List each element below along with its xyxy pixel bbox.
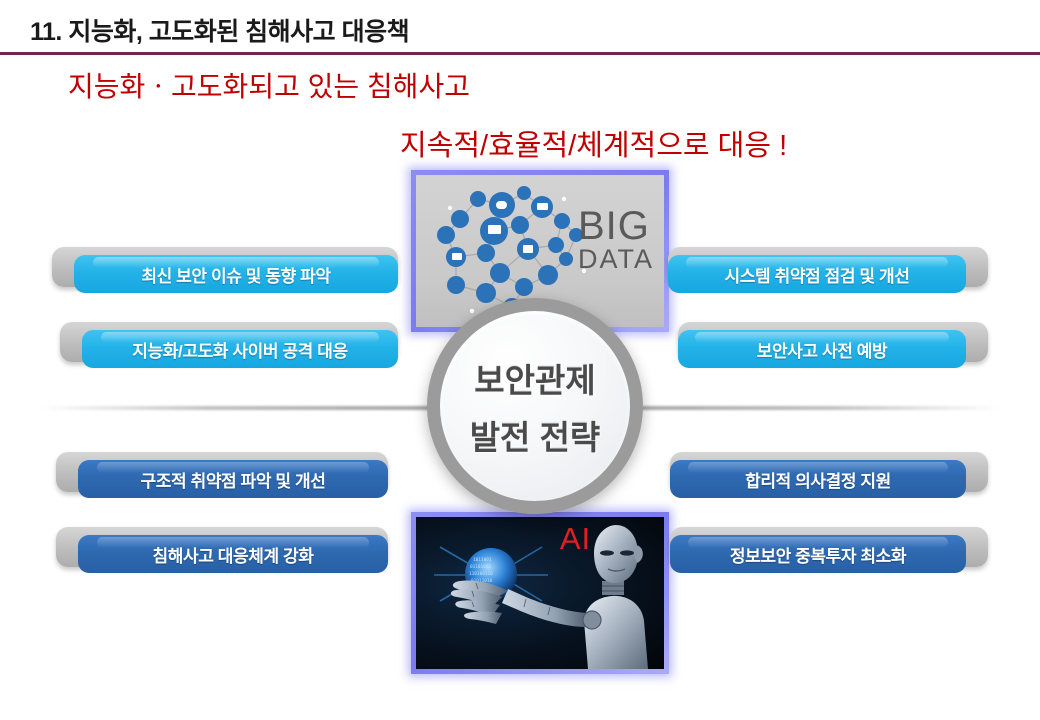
svg-text:1011001: 1011001 (473, 557, 492, 563)
callout-label: 보안사고 사전 예방 (678, 330, 966, 368)
center-circle-line2: 발전 전략 (470, 411, 601, 459)
callout-bottom-left-1[interactable]: 구조적 취약점 파악 및 개선 (56, 452, 388, 498)
callout-bottom-right-1[interactable]: 합리적 의사결정 지원 (670, 452, 988, 498)
callout-label: 침해사고 대응체계 강화 (78, 535, 388, 573)
svg-text:01101001: 01101001 (470, 564, 492, 570)
callout-top-left-2[interactable]: 지능화/고도화 사이버 공격 대응 (60, 322, 398, 368)
ai-label: AI (560, 521, 591, 557)
svg-text:110100110: 110100110 (469, 571, 493, 577)
center-strategy-circle: 보안관제 발전 전략 (427, 298, 643, 514)
callout-label: 시스템 취약점 점검 및 개선 (668, 255, 966, 293)
callout-label: 합리적 의사결정 지원 (670, 460, 966, 498)
callout-bottom-right-2[interactable]: 정보보안 중복투자 최소화 (670, 527, 988, 573)
center-circle-line1: 보안관제 (474, 354, 595, 402)
callout-top-right-2[interactable]: 보안사고 사전 예방 (678, 322, 988, 368)
callout-label: 최신 보안 이슈 및 동향 파악 (74, 255, 398, 293)
ai-robot-illustration: 101100101101001 11010011001011010 101001… (416, 517, 664, 669)
big-data-word-data: DATA (578, 246, 654, 272)
big-data-wordmark: BIG DATA (578, 207, 654, 273)
callout-top-right-1[interactable]: 시스템 취약점 점검 및 개선 (668, 247, 988, 293)
page-title: 11. 지능화, 고도화된 침해사고 대응책 (30, 12, 409, 48)
callout-bottom-left-2[interactable]: 침해사고 대응체계 강화 (56, 527, 388, 573)
callout-top-left-1[interactable]: 최신 보안 이슈 및 동향 파악 (52, 247, 398, 293)
ai-robot-artwork: 101100101101001 11010011001011010 101001… (416, 517, 664, 669)
callout-label: 지능화/고도화 사이버 공격 대응 (82, 330, 398, 368)
big-data-word-big: BIG (578, 207, 654, 246)
ai-robot-image: 101100101101001 11010011001011010 101001… (411, 512, 669, 674)
title-divider-rule (0, 52, 1040, 55)
slide-canvas: 11. 지능화, 고도화된 침해사고 대응책 지능화ㆍ고도화되고 있는 침해사고… (0, 0, 1040, 720)
accent-heading: 지속적/효율적/체계적으로 대응 ! (400, 122, 787, 164)
callout-label: 정보보안 중복투자 최소화 (670, 535, 966, 573)
callout-label: 구조적 취약점 파악 및 개선 (78, 460, 388, 498)
subtitle-heading: 지능화ㆍ고도화되고 있는 침해사고 (68, 65, 470, 105)
